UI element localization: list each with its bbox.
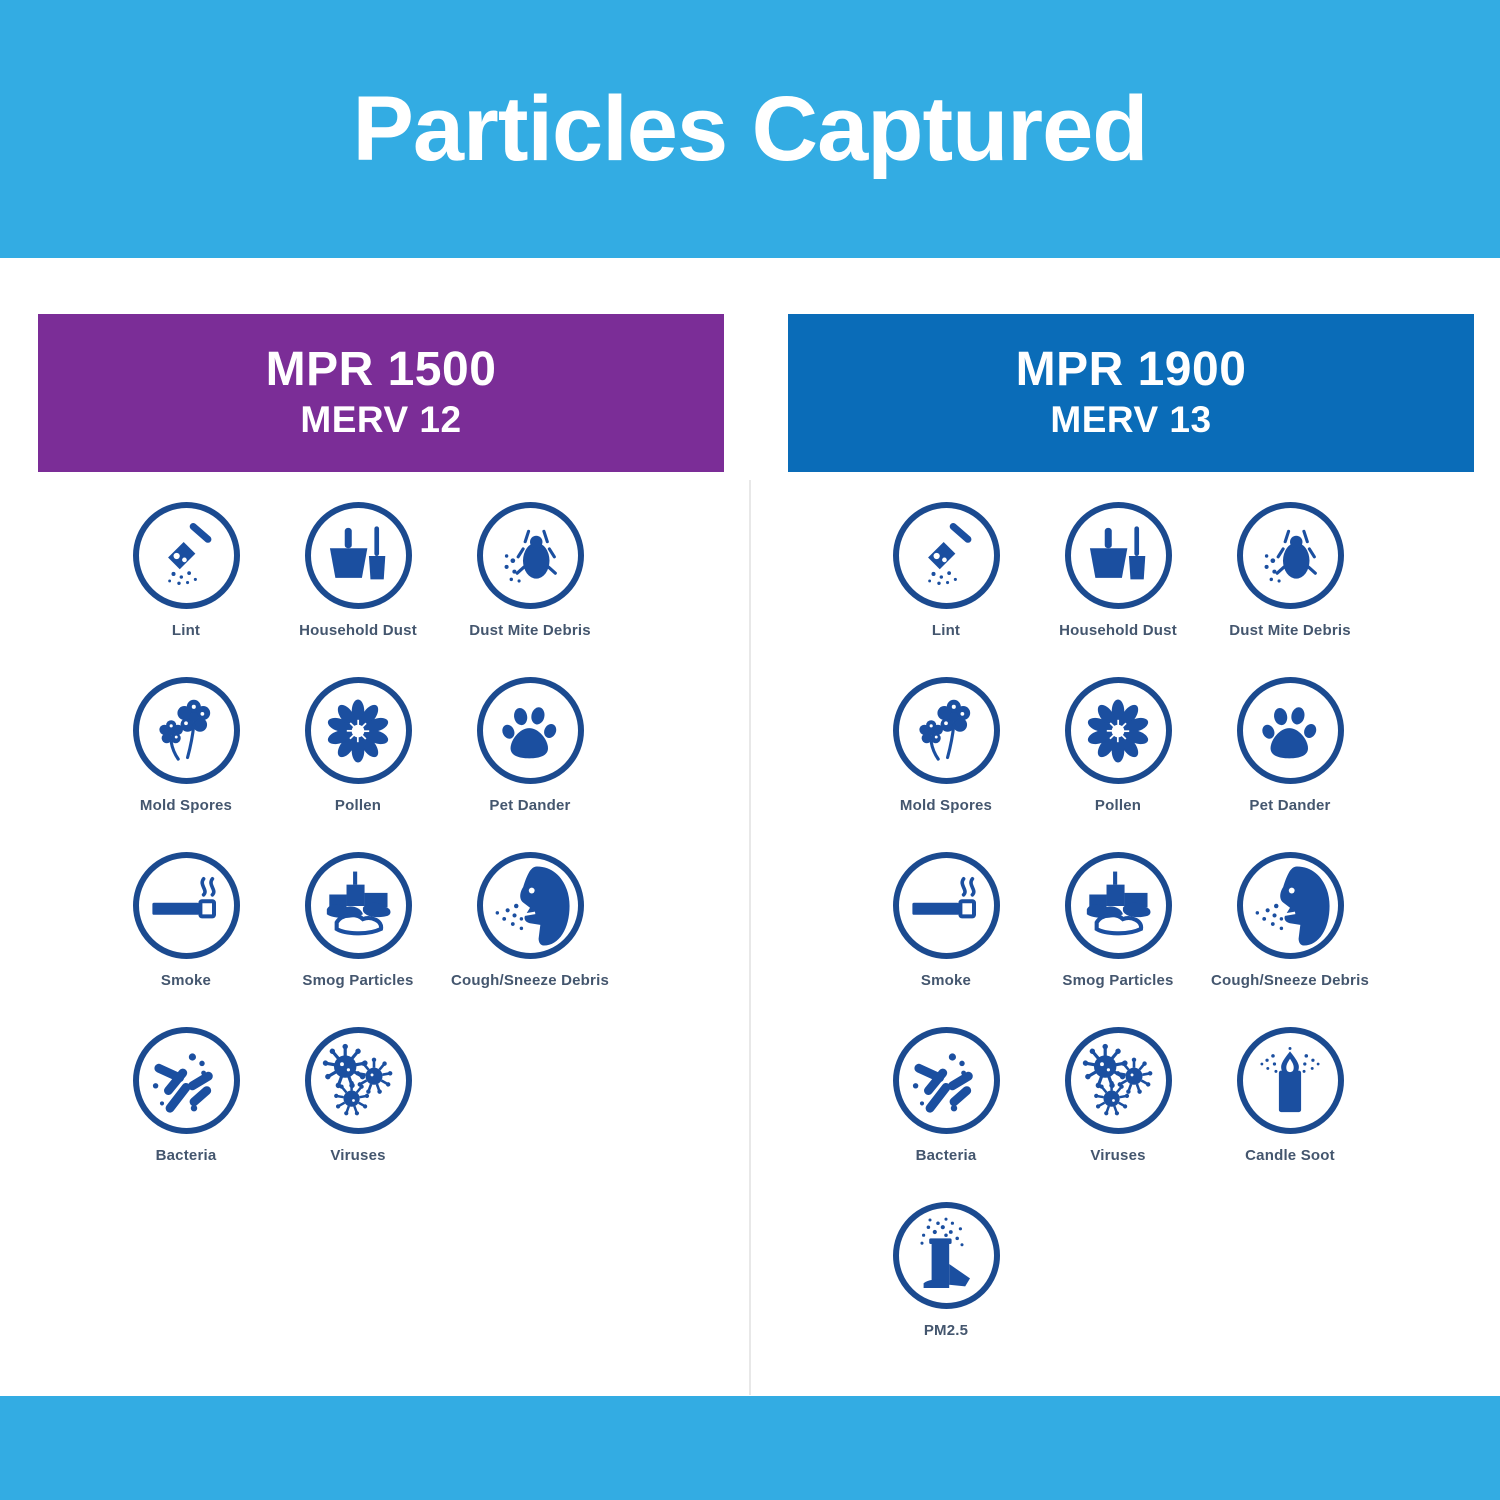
particle-item: Lint: [100, 498, 272, 673]
particle-label: Lint: [932, 623, 960, 638]
particle-item: Mold Spores: [100, 673, 272, 848]
particle-label: Viruses: [330, 1148, 385, 1163]
particles-captured-infographic: Particles Captured MPR 1500 MERV 12: [0, 0, 1500, 1500]
smog-city-icon: [1065, 852, 1172, 959]
sneeze-face-icon: [1237, 852, 1344, 959]
lint-roller-icon: [893, 502, 1000, 609]
particle-label: Pollen: [1095, 798, 1141, 813]
particle-item: Candle Soot: [1204, 1023, 1376, 1198]
particle-label: Household Dust: [299, 623, 417, 638]
particle-item: Bacteria: [860, 1023, 1032, 1198]
particle-item: Pet Dander: [444, 673, 616, 848]
smokestack-pm25-icon: [893, 1202, 1000, 1309]
particle-label: Bacteria: [156, 1148, 217, 1163]
particle-item: Viruses: [272, 1023, 444, 1198]
column-header-mpr-1900: MPR 1900 MERV 13: [788, 314, 1474, 472]
pollen-flower-icon: [305, 677, 412, 784]
particle-item: Smog Particles: [1032, 848, 1204, 1023]
particle-label: Smog Particles: [1062, 973, 1173, 988]
particle-item: Pollen: [1032, 673, 1204, 848]
candle-soot-icon: [1237, 1027, 1344, 1134]
bacteria-icon: [893, 1027, 1000, 1134]
particle-label: Mold Spores: [900, 798, 992, 813]
dust-mite-icon: [477, 502, 584, 609]
bacteria-icon: [133, 1027, 240, 1134]
particle-label: Dust Mite Debris: [469, 623, 591, 638]
particle-label: Dust Mite Debris: [1229, 623, 1351, 638]
dust-mite-icon: [1237, 502, 1344, 609]
particle-label: Mold Spores: [140, 798, 232, 813]
particle-label: Pollen: [335, 798, 381, 813]
mpr-rating-label: MPR 1500: [266, 345, 497, 395]
merv-rating-label: MERV 13: [1050, 399, 1211, 442]
cigarette-smoke-icon: [133, 852, 240, 959]
particle-item: Bacteria: [100, 1023, 272, 1198]
particle-item: Smoke: [860, 848, 1032, 1023]
particle-label: PM2.5: [924, 1323, 968, 1338]
particle-label: Pet Dander: [489, 798, 570, 813]
pollen-flower-icon: [1065, 677, 1172, 784]
particle-item: PM2.5: [860, 1198, 1032, 1373]
smog-city-icon: [305, 852, 412, 959]
particle-item: Mold Spores: [860, 673, 1032, 848]
particle-label: Candle Soot: [1245, 1148, 1335, 1163]
particle-item: Cough/Sneeze Debris: [444, 848, 616, 1023]
lint-roller-icon: [133, 502, 240, 609]
particle-label: Household Dust: [1059, 623, 1177, 638]
column-mpr-1900: MPR 1900 MERV 13 Lint: [750, 258, 1500, 1396]
particle-item: Pollen: [272, 673, 444, 848]
top-banner: Particles Captured: [0, 0, 1500, 258]
virus-icon: [1065, 1027, 1172, 1134]
column-mpr-1500: MPR 1500 MERV 12 Lint: [0, 258, 750, 1396]
particle-item: Household Dust: [1032, 498, 1204, 673]
particle-label: Cough/Sneeze Debris: [451, 973, 609, 988]
particle-label: Smoke: [921, 973, 971, 988]
merv-rating-label: MERV 12: [300, 399, 461, 442]
particle-item: Smoke: [100, 848, 272, 1023]
bottom-banner: [0, 1396, 1500, 1500]
mpr-rating-label: MPR 1900: [1016, 345, 1247, 395]
particle-item: Household Dust: [272, 498, 444, 673]
particle-label: Smoke: [161, 973, 211, 988]
paw-print-icon: [1237, 677, 1344, 784]
particle-item: Pet Dander: [1204, 673, 1376, 848]
particle-label: Lint: [172, 623, 200, 638]
particle-label: Smog Particles: [302, 973, 413, 988]
mold-flowers-icon: [893, 677, 1000, 784]
comparison-body: MPR 1500 MERV 12 Lint: [0, 258, 1500, 1396]
particle-item: Viruses: [1032, 1023, 1204, 1198]
dustpan-broom-icon: [1065, 502, 1172, 609]
sneeze-face-icon: [477, 852, 584, 959]
virus-icon: [305, 1027, 412, 1134]
particle-label: Cough/Sneeze Debris: [1211, 973, 1369, 988]
particle-item: Dust Mite Debris: [444, 498, 616, 673]
mold-flowers-icon: [133, 677, 240, 784]
dustpan-broom-icon: [305, 502, 412, 609]
particle-label: Pet Dander: [1249, 798, 1330, 813]
page-title: Particles Captured: [353, 83, 1148, 175]
particle-label: Viruses: [1090, 1148, 1145, 1163]
paw-print-icon: [477, 677, 584, 784]
particle-grid-mpr-1500: Lint Household Dust: [100, 498, 616, 1198]
particle-item: Dust Mite Debris: [1204, 498, 1376, 673]
particle-item: Cough/Sneeze Debris: [1204, 848, 1376, 1023]
particle-item: Smog Particles: [272, 848, 444, 1023]
cigarette-smoke-icon: [893, 852, 1000, 959]
particle-item: Lint: [860, 498, 1032, 673]
particle-grid-mpr-1900: Lint Household Dust: [860, 498, 1376, 1373]
columns-container: MPR 1500 MERV 12 Lint: [0, 258, 1500, 1396]
particle-label: Bacteria: [916, 1148, 977, 1163]
column-header-mpr-1500: MPR 1500 MERV 12: [38, 314, 724, 472]
